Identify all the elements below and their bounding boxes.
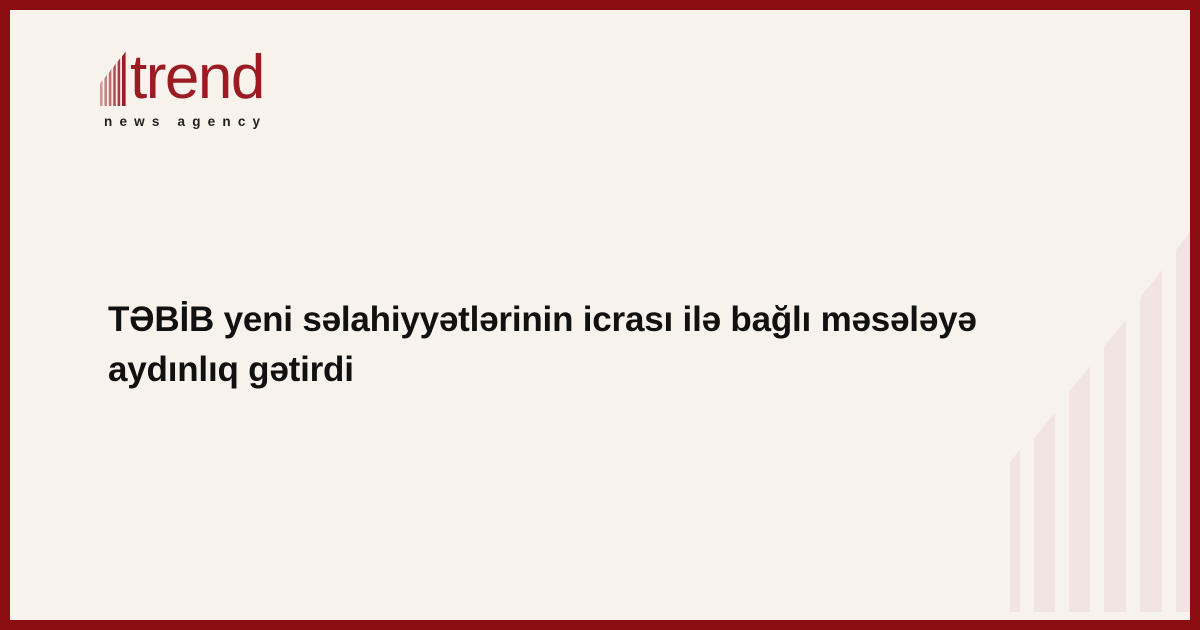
ascending-bars-mark-icon <box>100 50 128 106</box>
logo-wordmark-row: trend <box>100 44 440 106</box>
logo-wordmark-text: trend <box>130 49 264 106</box>
headline-title: TƏBİB yeni səlahiyyətlərinin icrası ilə … <box>108 295 1008 394</box>
ascending-bars-watermark <box>1010 170 1190 620</box>
share-card: trend news agency TƏBİB yeni səlahiyyətl… <box>0 0 1200 630</box>
card-content-area: trend news agency TƏBİB yeni səlahiyyətl… <box>10 10 1190 620</box>
trend-logo[interactable]: trend news agency <box>100 44 440 144</box>
logo-tagline-text: news agency <box>104 114 440 129</box>
